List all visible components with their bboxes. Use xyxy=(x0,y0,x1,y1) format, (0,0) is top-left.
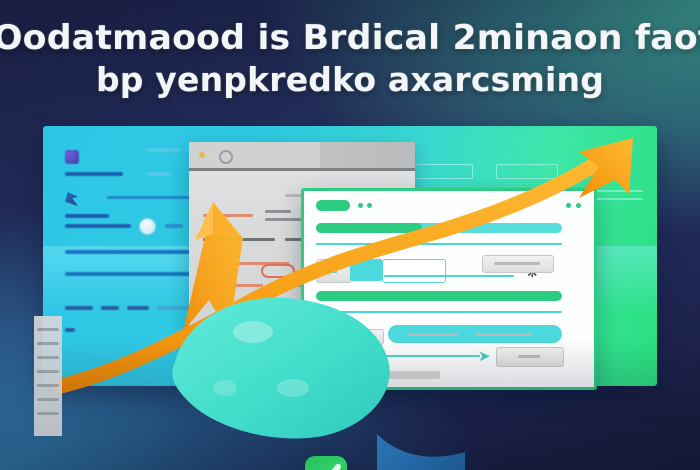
blue-folded-sheet xyxy=(373,426,503,470)
mint-blob xyxy=(167,292,397,442)
illustration: ⇦ ➤ ❋ ➤ xyxy=(43,126,657,388)
hero-graphic: Oodatmaood is Brdical 2minaon faotsp bp … xyxy=(0,0,700,470)
headline-line-2: bp yenpkredko axarcsming xyxy=(0,60,700,100)
headline: Oodatmaood is Brdical 2minaon faotsp bp … xyxy=(0,18,700,100)
green-check-badge xyxy=(305,456,347,470)
check-icon xyxy=(305,456,347,470)
headline-line-1: Oodatmaood is Brdical 2minaon faotsp xyxy=(0,18,700,58)
side-strip-panel xyxy=(34,316,62,436)
